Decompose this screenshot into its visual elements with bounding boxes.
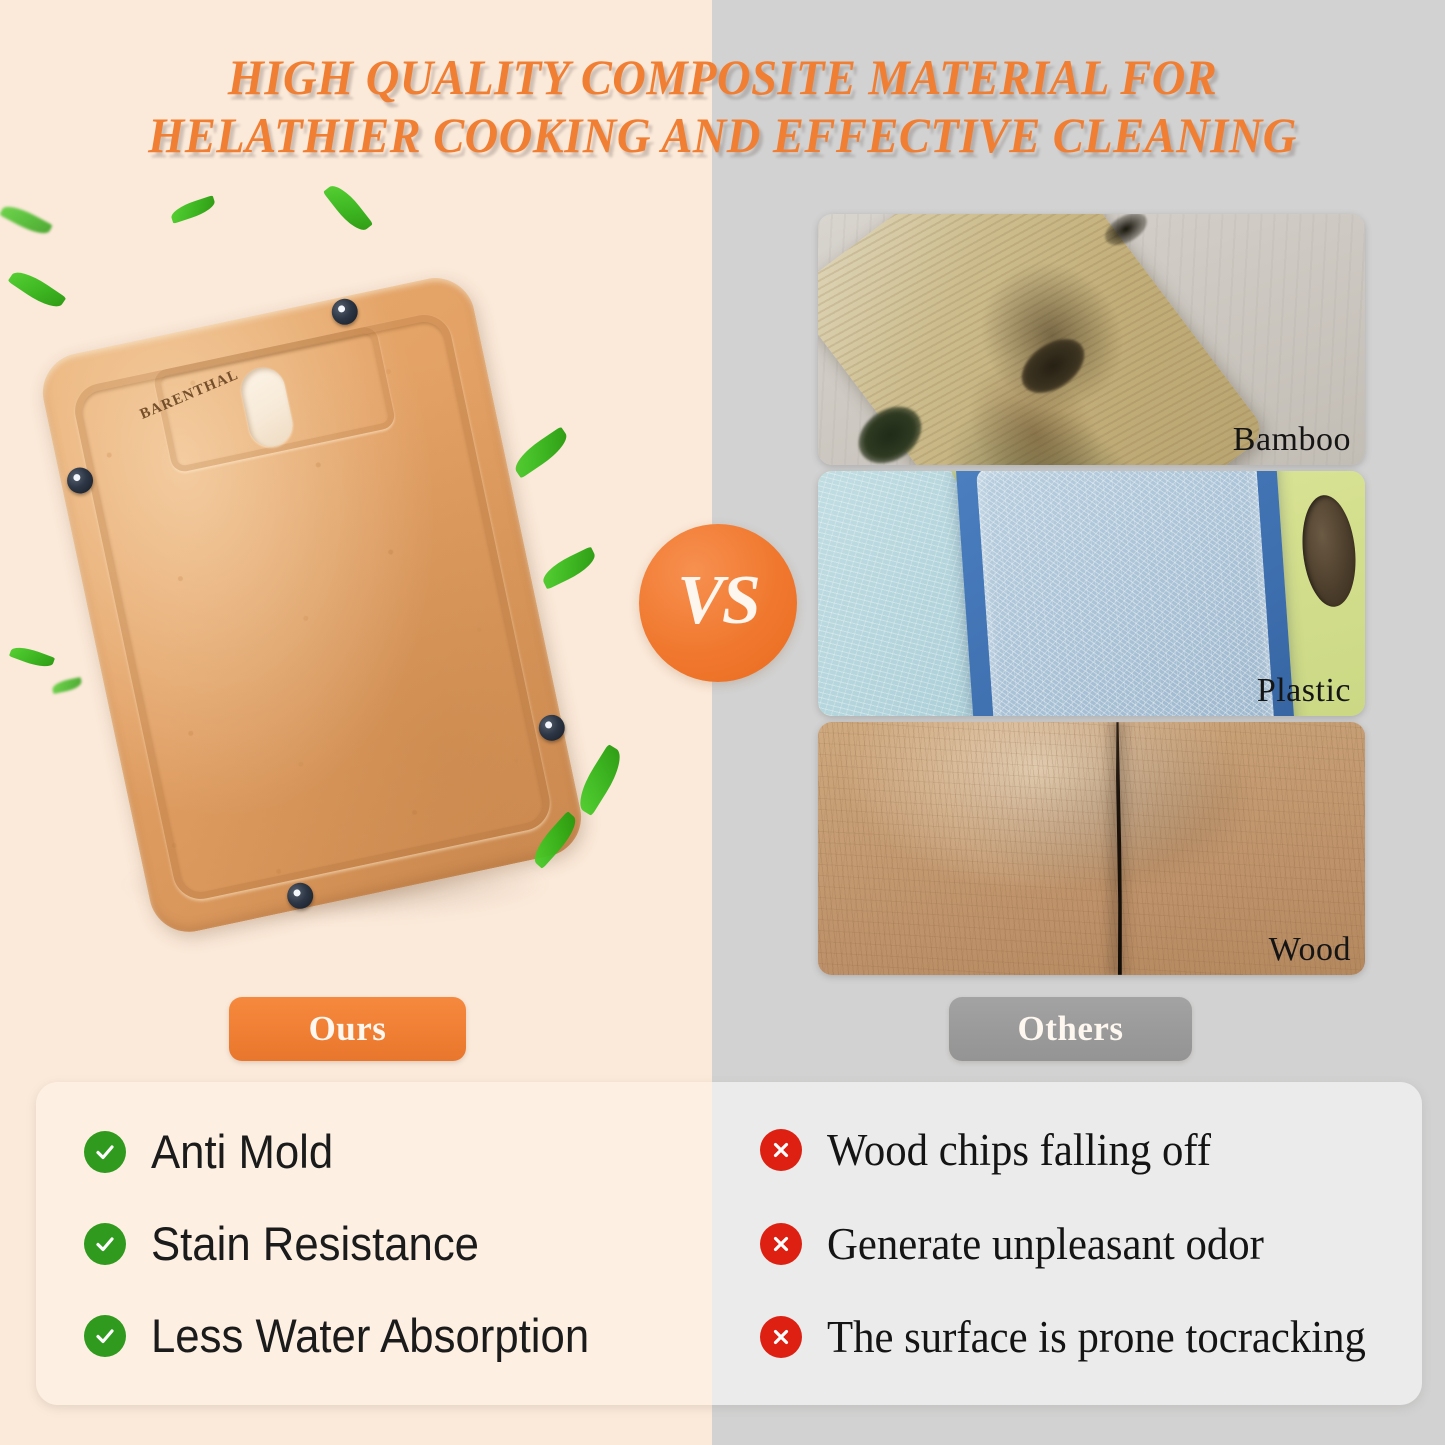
- feature-row: The surface is prone tocracking: [760, 1311, 1422, 1363]
- label-ours-text: Ours: [309, 1009, 387, 1049]
- comparison-column-ours: Anti Mold Stain Resistance Less Water Ab…: [36, 1082, 712, 1405]
- vs-label: VS: [677, 561, 759, 641]
- check-icon: [84, 1315, 126, 1357]
- vs-badge: VS: [639, 524, 797, 682]
- feature-label: Less Water Absorption: [151, 1308, 589, 1363]
- feature-row: Wood chips falling off: [760, 1124, 1422, 1176]
- cross-icon: [760, 1223, 802, 1265]
- label-ours: Ours: [229, 997, 466, 1061]
- feature-row: Anti Mold: [84, 1124, 712, 1179]
- feature-label: Wood chips falling off: [827, 1124, 1211, 1176]
- check-icon: [84, 1131, 126, 1173]
- cutting-board: BARENTHAL: [35, 271, 588, 940]
- feature-label: Anti Mold: [151, 1124, 333, 1179]
- cross-icon: [760, 1129, 802, 1171]
- infographic-root: HIGH QUALITY COMPOSITE MATERIAL FOR HELA…: [0, 0, 1445, 1445]
- check-icon: [84, 1223, 126, 1265]
- photo-bamboo: Bamboo: [818, 214, 1365, 465]
- plastic-scratched-surface: [976, 471, 1276, 716]
- product-image: BARENTHAL: [70, 290, 660, 950]
- feature-label: Generate unpleasant odor: [827, 1218, 1264, 1270]
- comparison-card: Anti Mold Stain Resistance Less Water Ab…: [36, 1082, 1422, 1405]
- feature-label: Stain Resistance: [151, 1216, 479, 1271]
- leaf-decoration: [539, 546, 600, 589]
- photo-caption-wood: Wood: [1269, 931, 1351, 969]
- label-others: Others: [949, 997, 1192, 1061]
- plastic-board-blue: [955, 471, 1297, 716]
- photo-caption-plastic: Plastic: [1257, 672, 1351, 710]
- photo-wood: Wood: [818, 722, 1365, 975]
- cross-icon: [760, 1316, 802, 1358]
- photo-plastic: Plastic: [818, 471, 1365, 716]
- label-others-text: Others: [1017, 1009, 1123, 1049]
- feature-label: The surface is prone tocracking: [827, 1311, 1366, 1363]
- feature-row: Less Water Absorption: [84, 1308, 712, 1363]
- leaf-decoration: [509, 426, 572, 478]
- feature-row: Stain Resistance: [84, 1216, 712, 1271]
- feature-row: Generate unpleasant odor: [760, 1218, 1422, 1270]
- leaf-decoration: [571, 744, 628, 816]
- comparison-column-others: Wood chips falling off Generate unpleasa…: [712, 1082, 1422, 1405]
- photo-caption-bamboo: Bamboo: [1233, 421, 1351, 459]
